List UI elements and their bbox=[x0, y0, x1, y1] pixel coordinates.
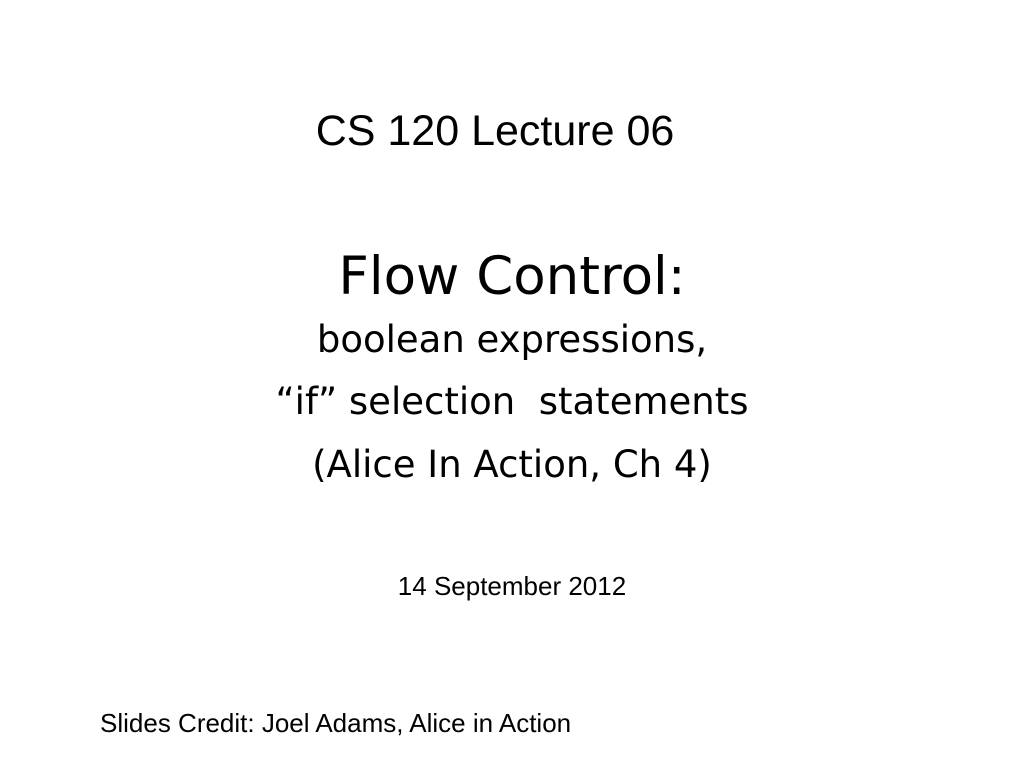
subtitle-line-boolean-expressions: boolean expressions, bbox=[0, 309, 1024, 372]
title-block: CS 120 Lecture 06 bbox=[0, 104, 990, 216]
subtitle-line-if-selection-statements: “if” selection statements bbox=[0, 371, 1024, 434]
presentation-slide: CS 120 Lecture 06 Flow Control: boolean … bbox=[0, 0, 1024, 768]
subtitle-line-book-reference: (Alice In Action, Ch 4) bbox=[0, 434, 1024, 497]
subtitle-block: Flow Control: boolean expressions, “if” … bbox=[0, 246, 1024, 497]
title-spacer bbox=[0, 160, 990, 216]
slide-date: 14 September 2012 bbox=[0, 571, 1024, 602]
slides-credit: Slides Credit: Joel Adams, Alice in Acti… bbox=[100, 708, 571, 739]
page-title: CS 120 Lecture 06 bbox=[0, 104, 990, 160]
subtitle-heading: Flow Control: bbox=[0, 246, 1024, 309]
